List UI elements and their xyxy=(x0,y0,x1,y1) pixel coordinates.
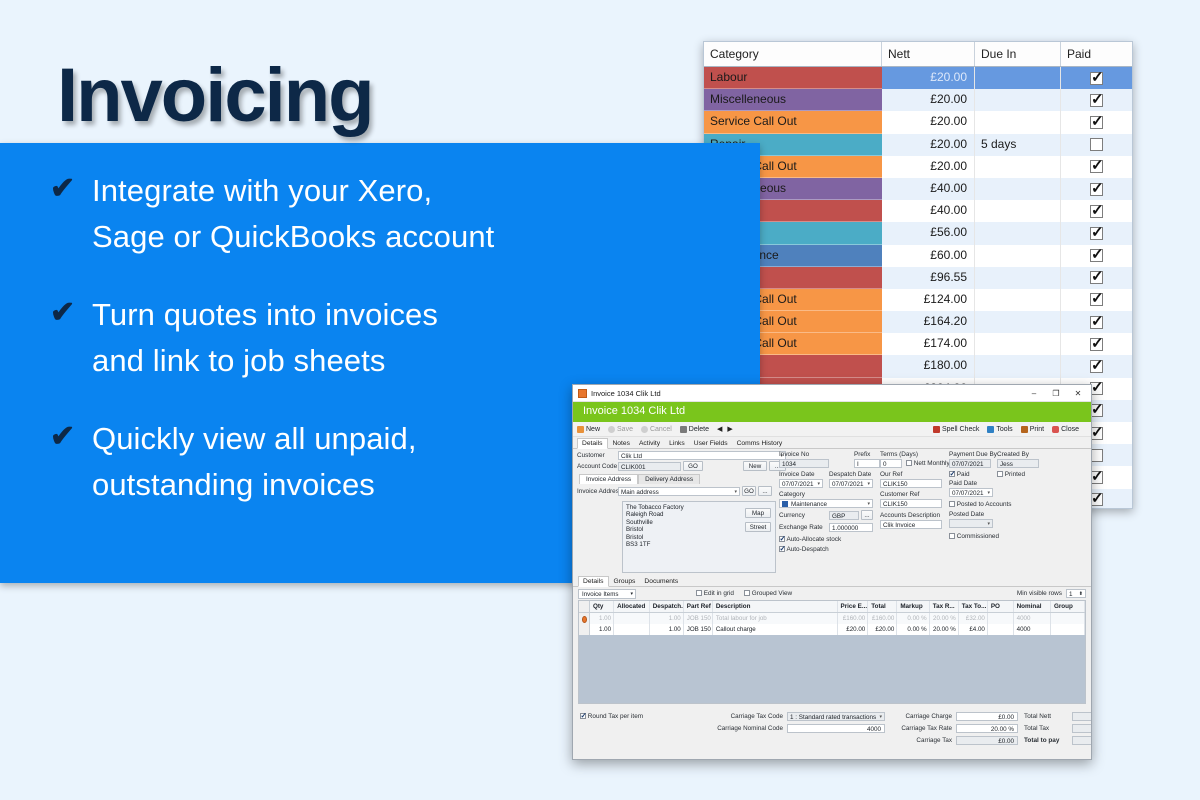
paid-checkbox[interactable] xyxy=(1090,94,1103,107)
category-value: Maintenance xyxy=(791,501,827,508)
check-icon: ✔ xyxy=(46,416,92,458)
created-by-field[interactable]: Jess xyxy=(997,459,1039,468)
previous-record-icon[interactable]: ◀ xyxy=(717,425,722,433)
close-icon[interactable]: ✕ xyxy=(1067,389,1089,398)
invoice-totals-bar: Round Tax per item Carriage Tax Code 1 :… xyxy=(578,711,1086,753)
items-grid-row[interactable]: 1.001.00JOB 150Total labour for job£160.… xyxy=(579,613,1085,624)
cell-paid xyxy=(1061,245,1132,267)
posted-to-accounts-checkbox[interactable] xyxy=(949,501,955,507)
carriage-tax-rate-field[interactable]: 20.00 % xyxy=(956,724,1018,733)
total-tax-label: Total Tax xyxy=(1024,725,1049,732)
column-header-due-in[interactable]: Due In xyxy=(975,42,1061,66)
table-row[interactable]: Service Call Out£124.00 xyxy=(704,289,1132,311)
table-row[interactable]: Miscelleneous£40.00 xyxy=(704,178,1132,200)
cell-due-in xyxy=(975,222,1061,244)
grouped-view-row[interactable]: Grouped View xyxy=(744,590,792,597)
accounts-description-field[interactable]: Clik Invoice xyxy=(880,520,942,529)
cell-paid xyxy=(1061,134,1132,156)
cell-category: Miscelleneous xyxy=(704,89,882,111)
invoice-items-select-value: Invoice Items xyxy=(582,591,618,598)
chevron-down-icon: ▾ xyxy=(630,591,633,598)
cell-paid xyxy=(1061,156,1132,178)
print-label: Print xyxy=(1030,426,1044,433)
cell-category: Labour xyxy=(704,67,882,89)
our-ref-field[interactable]: CLIK150 xyxy=(880,479,942,488)
cell-nett: £20.00 xyxy=(882,134,975,156)
posted-to-accounts-label: Posted to Accounts xyxy=(957,501,1012,508)
feature-bullet-text: Quickly view all unpaid,outstanding invo… xyxy=(92,416,417,508)
paid-checkbox[interactable] xyxy=(1090,183,1103,196)
close-window-icon xyxy=(1052,426,1059,433)
close-label: Close xyxy=(1061,426,1079,433)
carriage-tax-rate-label: Carriage Tax Rate xyxy=(890,725,952,732)
commissioned-label: Commissioned xyxy=(957,533,999,540)
cell-po xyxy=(988,624,1014,635)
table-row[interactable]: Service Call Out£20.00 xyxy=(704,156,1132,178)
printer-icon xyxy=(1021,426,1028,433)
total-to-pay-label: Total to pay xyxy=(1024,737,1059,744)
spell-check-label: Spell Check xyxy=(942,426,979,433)
cell-paid xyxy=(1061,333,1132,355)
cell-due-in: 5 days xyxy=(975,134,1061,156)
invoice-items-grid: QtyAllocatedDespatch...Part RefDescripti… xyxy=(578,600,1086,704)
posted-date-label: Posted Date xyxy=(949,511,984,518)
tab-comms-history[interactable]: Comms History xyxy=(733,439,788,448)
cell-nominal: 4000 xyxy=(1014,613,1051,624)
total-to-pay-value: £216.00 xyxy=(1072,736,1092,745)
maximize-icon[interactable]: ❐ xyxy=(1045,389,1067,398)
cell-due-in xyxy=(975,178,1061,200)
address-line: BS3 1TF xyxy=(626,541,772,548)
paid-checkbox[interactable] xyxy=(1090,116,1103,129)
despatch-date-label: Despatch Date xyxy=(829,471,871,478)
feature-bullet-list: ✔Integrate with your Xero,Sage or QuickB… xyxy=(46,168,686,540)
row-marker[interactable] xyxy=(579,613,590,624)
cell-paid xyxy=(1061,289,1132,311)
cell-group xyxy=(1051,624,1085,635)
cell-paid xyxy=(1061,111,1132,133)
paid-label: Paid xyxy=(957,471,970,478)
map-button[interactable]: Map xyxy=(745,508,771,518)
paid-date-field[interactable]: 07/07/2021 xyxy=(949,488,993,497)
feature-bullet: ✔Integrate with your Xero,Sage or QuickB… xyxy=(46,168,686,260)
cell-despatched: 1.00 xyxy=(650,613,684,624)
cell-nett: £174.00 xyxy=(882,333,975,355)
print-button[interactable]: Print xyxy=(1021,426,1044,433)
table-row[interactable]: Repair£20.005 days xyxy=(704,134,1132,156)
cell-category: Service Call Out xyxy=(704,111,882,133)
items-grid-body: 1.001.00JOB 150Total labour for job£160.… xyxy=(579,613,1085,635)
cell-due-in xyxy=(975,355,1061,377)
column-header-markup[interactable]: Markup xyxy=(897,601,929,612)
cell-paid xyxy=(1061,67,1132,89)
table-row[interactable]: Repair£56.00 xyxy=(704,222,1132,244)
posted-to-accounts-row[interactable]: Posted to Accounts xyxy=(949,501,1012,508)
nett-monthly-row[interactable]: Nett Monthly xyxy=(906,460,950,467)
commissioned-row[interactable]: Commissioned xyxy=(949,533,999,540)
items-tab-groups[interactable]: Groups xyxy=(609,577,640,586)
cell-tax-rate: 20.00 % xyxy=(930,624,959,635)
carriage-charge-label: Carriage Charge xyxy=(890,713,952,720)
paid-checkbox[interactable] xyxy=(1090,271,1103,284)
cell-nett: £180.00 xyxy=(882,355,975,377)
min-visible-rows-stepper[interactable]: 1 ⬍ xyxy=(1066,589,1086,598)
nett-monthly-checkbox[interactable] xyxy=(906,460,912,466)
cell-nett: £20.00 xyxy=(882,156,975,178)
our-ref-label: Our Ref xyxy=(880,471,902,478)
tools-label: Tools xyxy=(996,426,1012,433)
cell-part-ref: JOB 150 xyxy=(684,613,713,624)
cell-nett: £164.20 xyxy=(882,311,975,333)
items-tab-details[interactable]: Details xyxy=(578,576,609,587)
printed-checkbox[interactable] xyxy=(997,471,1003,477)
cell-nett: £124.00 xyxy=(882,289,975,311)
table-row[interactable]: Labour£40.00 xyxy=(704,200,1132,222)
grouped-view-checkbox[interactable] xyxy=(744,590,750,596)
items-tab-documents[interactable]: Documents xyxy=(640,577,683,586)
edit-in-grid-row[interactable]: Edit in grid xyxy=(696,590,734,597)
category-field[interactable]: Maintenance xyxy=(779,499,873,508)
printed-label: Printed xyxy=(1005,471,1025,478)
currency-label: Currency xyxy=(779,512,805,519)
cell-group xyxy=(1051,613,1085,624)
street-button[interactable]: Street xyxy=(745,522,771,532)
items-grid-toolbar: Invoice Items ▾ Edit in grid Grouped Vie… xyxy=(573,587,1091,600)
minimize-icon[interactable]: – xyxy=(1023,389,1045,398)
category-color-swatch xyxy=(782,501,788,507)
carriage-tax-code-field[interactable]: 1 : Standard rated transactions xyxy=(787,712,885,721)
exchange-rate-field[interactable]: 1.000000 xyxy=(829,523,873,532)
items-grid-empty-area xyxy=(579,635,1085,704)
accounts-description-label: Accounts Description xyxy=(880,512,940,519)
total-tax-value: £36.00 xyxy=(1072,724,1092,733)
cell-nett: £20.00 xyxy=(882,67,975,89)
paid-checkbox[interactable] xyxy=(1090,249,1103,262)
round-tax-label: Round Tax per item xyxy=(588,713,643,720)
cell-paid xyxy=(1061,178,1132,200)
address-go-button[interactable]: GO xyxy=(742,486,756,496)
carriage-nominal-code-label: Carriage Nominal Code xyxy=(673,725,783,732)
cell-paid xyxy=(1061,355,1132,377)
feature-bullet-text: Turn quotes into invoicesand link to job… xyxy=(92,292,438,384)
delete-label: Delete xyxy=(689,426,709,433)
edit-in-grid-label: Edit in grid xyxy=(704,590,734,597)
items-grid-header: QtyAllocatedDespatch...Part RefDescripti… xyxy=(579,601,1085,613)
cell-allocated xyxy=(614,613,650,624)
cell-tax-rate: 20.00 % xyxy=(930,613,959,624)
cell-po xyxy=(988,613,1014,624)
prefix-field[interactable]: I xyxy=(854,459,880,468)
items-tab-strip: DetailsGroupsDocuments xyxy=(573,576,1091,587)
posted-date-field[interactable] xyxy=(949,519,993,528)
cell-tax-total: £32.00 xyxy=(959,613,988,624)
cell-due-in xyxy=(975,156,1061,178)
cell-price-each: £20.00 xyxy=(838,624,869,635)
column-header-total[interactable]: Total xyxy=(868,601,897,612)
paid-row[interactable]: Paid xyxy=(949,471,970,478)
invoice-items-select[interactable]: Invoice Items ▾ xyxy=(578,589,636,599)
cell-nett: £20.00 xyxy=(882,89,975,111)
cell-qty: 1.00 xyxy=(590,613,614,624)
table-row[interactable]: Service Call Out£164.20 xyxy=(704,311,1132,333)
total-nett-label: Total Nett xyxy=(1024,713,1051,720)
cell-paid xyxy=(1061,311,1132,333)
cell-due-in xyxy=(975,245,1061,267)
invoice-date-field[interactable]: 07/07/2021 xyxy=(779,479,823,488)
cell-part-ref: JOB 150 xyxy=(684,624,713,635)
min-visible-rows-label: Min visible rows xyxy=(1017,590,1062,597)
created-by-label: Created By xyxy=(997,451,1029,458)
payment-due-by-label: Payment Due By xyxy=(949,451,997,458)
table-row[interactable]: Miscelleneous£20.00 xyxy=(704,89,1132,111)
column-header-despatch[interactable]: Despatch... xyxy=(650,601,684,612)
paid-checkbox[interactable] xyxy=(1090,227,1103,240)
prefix-label: Prefix xyxy=(854,451,870,458)
auto-allocate-checkbox[interactable] xyxy=(779,536,785,542)
next-record-icon[interactable]: ▶ xyxy=(727,425,732,433)
payment-due-by-field[interactable]: 07/07/2021 xyxy=(949,459,991,468)
category-table-header: Category Nett Due In Paid xyxy=(704,42,1132,67)
feature-bullet: ✔Quickly view all unpaid,outstanding inv… xyxy=(46,416,686,508)
cell-nett: £40.00 xyxy=(882,200,975,222)
check-icon: ✔ xyxy=(46,168,92,210)
grid-gutter-header xyxy=(579,601,590,612)
invoice-date-label: Invoice Date xyxy=(779,471,815,478)
nett-monthly-label: Nett Monthly xyxy=(914,460,950,467)
currency-field[interactable]: GBP xyxy=(829,511,859,520)
cell-nett: £60.00 xyxy=(882,245,975,267)
wrench-icon xyxy=(987,426,994,433)
cell-total: £20.00 xyxy=(868,624,897,635)
cell-due-in xyxy=(975,311,1061,333)
printed-row[interactable]: Printed xyxy=(997,471,1025,478)
check-icon: ✔ xyxy=(46,292,92,334)
commissioned-checkbox[interactable] xyxy=(949,533,955,539)
invoice-no-field[interactable]: 1034 xyxy=(779,459,829,468)
paid-date-label: Paid Date xyxy=(949,480,977,487)
cell-price-each: £160.00 xyxy=(838,613,869,624)
spell-check-icon xyxy=(933,426,940,433)
paid-checkbox[interactable] xyxy=(1090,360,1103,373)
cell-paid xyxy=(1061,200,1132,222)
feature-bullet-text: Integrate with your Xero,Sage or QuickBo… xyxy=(92,168,494,260)
column-header-nett[interactable]: Nett xyxy=(882,42,975,66)
cell-markup: 0.00 % xyxy=(897,624,929,635)
cell-nett: £20.00 xyxy=(882,111,975,133)
paid-checkbox[interactable] xyxy=(1090,338,1103,351)
round-tax-checkbox[interactable] xyxy=(580,713,586,719)
feature-bullet: ✔Turn quotes into invoicesand link to jo… xyxy=(46,292,686,384)
edit-in-grid-checkbox[interactable] xyxy=(696,590,702,596)
auto-despatch-checkbox[interactable] xyxy=(779,546,785,552)
auto-despatch-row[interactable]: Auto-Despatch xyxy=(779,546,829,553)
table-row[interactable]: Service Call Out£174.00 xyxy=(704,333,1132,355)
table-row[interactable]: Maintenance£60.00 xyxy=(704,245,1132,267)
column-header-description[interactable]: Description xyxy=(713,601,838,612)
tab-user-fields[interactable]: User Fields xyxy=(690,439,733,448)
cell-paid xyxy=(1061,267,1132,289)
column-header-nominal[interactable]: Nominal xyxy=(1014,601,1051,612)
exchange-rate-label: Exchange Rate xyxy=(779,524,823,531)
min-visible-rows-value: 1 xyxy=(1069,591,1073,597)
round-tax-row[interactable]: Round Tax per item xyxy=(580,713,643,720)
auto-despatch-label: Auto-Despatch xyxy=(786,546,828,553)
cell-description: Total labour for job xyxy=(713,613,838,624)
cell-due-in xyxy=(975,289,1061,311)
tools-button[interactable]: Tools xyxy=(987,426,1012,433)
paid-checkbox[interactable] xyxy=(1090,316,1103,329)
cell-due-in xyxy=(975,200,1061,222)
cell-paid xyxy=(1061,222,1132,244)
paid-checkbox[interactable] xyxy=(1090,205,1103,218)
column-header-part-ref[interactable]: Part Ref xyxy=(684,601,713,612)
cell-nett: £56.00 xyxy=(882,222,975,244)
terms-days-label: Terms (Days) xyxy=(880,451,918,458)
paid-checkbox[interactable] xyxy=(1090,138,1103,151)
cell-total: £160.00 xyxy=(868,613,897,624)
grouped-view-label: Grouped View xyxy=(752,590,792,597)
auto-allocate-stock-row[interactable]: Auto-Allocate stock xyxy=(779,536,841,543)
spell-check-button[interactable]: Spell Check xyxy=(933,426,979,433)
column-header-category[interactable]: Category xyxy=(704,42,882,66)
close-button[interactable]: Close xyxy=(1052,426,1079,433)
cell-despatched: 1.00 xyxy=(650,624,684,635)
paid-checkbox[interactable] xyxy=(1090,72,1103,85)
stepper-arrows-icon[interactable]: ⬍ xyxy=(1079,591,1083,597)
invoice-no-label: Invoice No xyxy=(779,451,809,458)
column-header-group[interactable]: Group xyxy=(1051,601,1085,612)
paid-checkbox[interactable] xyxy=(1090,160,1103,173)
table-row[interactable]: Labour£180.00 xyxy=(704,355,1132,377)
despatch-date-field[interactable]: 07/07/2021 xyxy=(829,479,873,488)
cell-due-in xyxy=(975,89,1061,111)
cell-due-in xyxy=(975,67,1061,89)
address-ellipsis-button[interactable]: ... xyxy=(758,486,772,496)
table-row[interactable]: Service Call Out£20.00 xyxy=(704,111,1132,133)
slide-root: Category Nett Due In Paid Labour£20.00Mi… xyxy=(0,0,1200,800)
cell-nominal: 4000 xyxy=(1014,624,1051,635)
items-grid-row[interactable]: 1.001.00JOB 150Callout charge£20.00£20.0… xyxy=(579,624,1085,635)
category-label: Category xyxy=(779,491,805,498)
account-go-button[interactable]: GO xyxy=(683,461,703,471)
carriage-charge-field[interactable]: £0.00 xyxy=(956,712,1018,721)
customer-ref-field[interactable]: CLIK150 xyxy=(880,499,942,508)
total-nett-value: £180.00 xyxy=(1072,712,1092,721)
cell-due-in xyxy=(975,333,1061,355)
column-header-qty[interactable]: Qty xyxy=(590,601,614,612)
table-row[interactable]: Labour£20.00 xyxy=(704,67,1132,89)
row-indicator-icon xyxy=(582,616,587,623)
carriage-nominal-code-field[interactable]: 4000 xyxy=(787,724,885,733)
cell-qty: 1.00 xyxy=(590,624,614,635)
cell-description: Callout charge xyxy=(713,624,838,635)
auto-allocate-label: Auto-Allocate stock xyxy=(786,536,841,543)
cell-due-in xyxy=(975,111,1061,133)
column-header-po[interactable]: PO xyxy=(988,601,1014,612)
cell-paid xyxy=(1061,89,1132,111)
carriage-tax-code-label: Carriage Tax Code xyxy=(673,713,783,720)
customer-ref-label: Customer Ref xyxy=(880,491,919,498)
column-header-allocated[interactable]: Allocated xyxy=(614,601,650,612)
row-marker[interactable] xyxy=(579,624,590,635)
cell-due-in xyxy=(975,267,1061,289)
page-title: Invoicing xyxy=(57,52,373,139)
cell-nett: £40.00 xyxy=(882,178,975,200)
cell-nett: £96.55 xyxy=(882,267,975,289)
column-header-tax-r[interactable]: Tax R... xyxy=(930,601,959,612)
paid-checkbox[interactable] xyxy=(1090,293,1103,306)
cell-tax-total: £4.00 xyxy=(959,624,988,635)
paid-checkbox[interactable] xyxy=(949,471,955,477)
currency-ellipsis-button[interactable]: ... xyxy=(861,510,873,520)
column-header-paid[interactable]: Paid xyxy=(1061,42,1132,66)
column-header-tax-to[interactable]: Tax To... xyxy=(959,601,988,612)
cell-allocated xyxy=(614,624,650,635)
cell-markup: 0.00 % xyxy=(897,613,929,624)
table-row[interactable]: Labour£96.55 xyxy=(704,267,1132,289)
carriage-tax-field: £0.00 xyxy=(956,736,1018,745)
carriage-tax-label: Carriage Tax xyxy=(890,737,952,744)
new-customer-button[interactable]: New xyxy=(743,461,767,471)
column-header-price-e[interactable]: Price E... xyxy=(838,601,869,612)
terms-days-field[interactable]: 0 xyxy=(880,459,902,468)
